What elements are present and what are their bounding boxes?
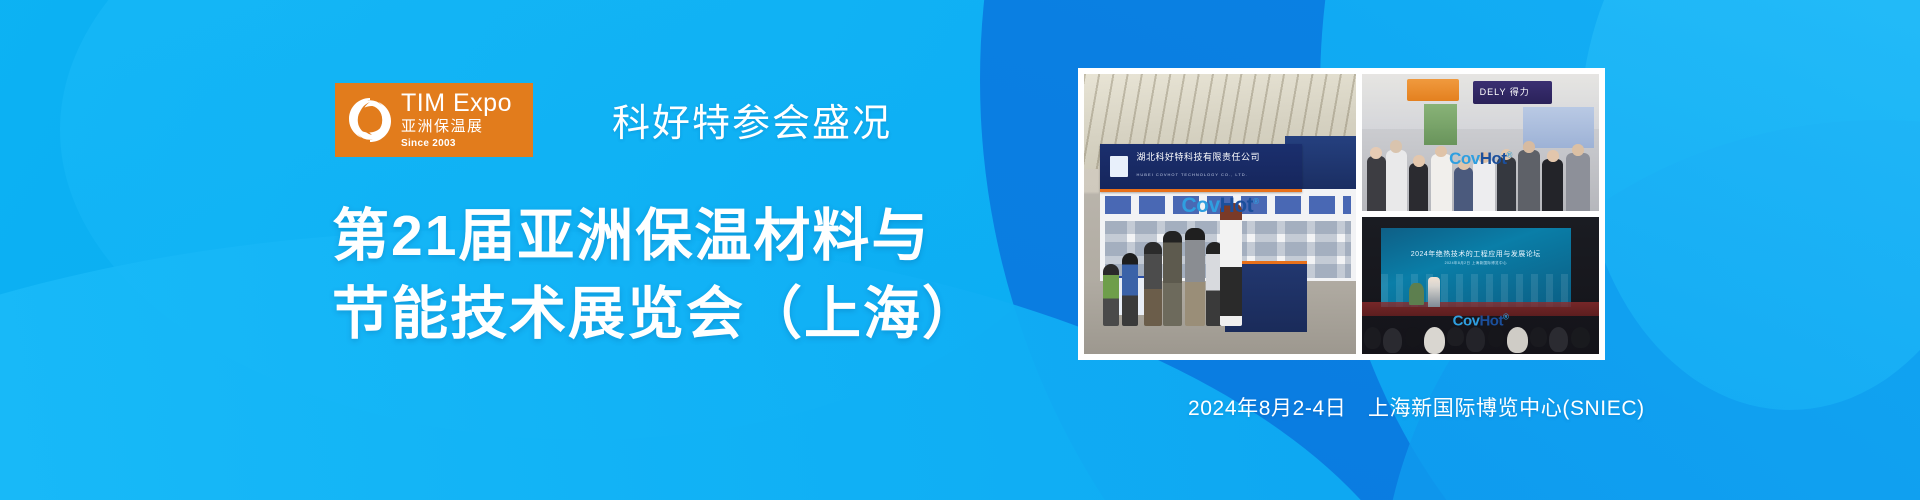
booth-header-banner: 湖北科好特科技有限责任公司 HUBEI COVHOT TECHNOLOGY CO…	[1100, 144, 1301, 192]
booth-banner-chinese: 湖北科好特科技有限责任公司	[1137, 150, 1261, 163]
audience-head	[1466, 327, 1485, 352]
aisle-orange-sign	[1407, 79, 1459, 101]
audience-head	[1530, 327, 1547, 347]
crowd-person-head	[1370, 147, 1382, 159]
booth-banner-english: HUBEI COVHOT TECHNOLOGY CO., LTD.	[1137, 172, 1248, 177]
watermark-registered-icon: ®	[1253, 197, 1258, 206]
crowd-person	[1409, 163, 1428, 211]
booth-banner-logo-icon	[1110, 156, 1128, 178]
tim-expo-swirl-icon	[345, 95, 395, 145]
audience-head	[1405, 327, 1422, 348]
banner-content: TIM Expo 亚洲保温展 Since 2003 科好特参会盛况 第21届亚洲…	[0, 0, 1920, 500]
watermark-cov-text: Cov	[1453, 313, 1480, 330]
aisle-crowd-scene: DELY 得力	[1362, 74, 1599, 211]
forum-photo: 2024年绝热技术的工程应用与发展论坛 2024年8月2日 上海新国际博览中心	[1362, 217, 1599, 354]
aisle-crowd-group	[1362, 134, 1599, 211]
watermark-registered-icon: ®	[1503, 313, 1508, 322]
crowd-person	[1566, 153, 1590, 211]
watermark-hot-text: Hot	[1220, 194, 1254, 217]
covhot-watermark: CovHot®	[1181, 194, 1258, 218]
booth-visitor	[1103, 264, 1119, 326]
booth-visitor	[1144, 242, 1162, 326]
crowd-person-head	[1413, 155, 1425, 167]
booth-visitor	[1185, 228, 1205, 326]
crowd-person	[1386, 150, 1407, 211]
tim-expo-logo[interactable]: TIM Expo 亚洲保温展 Since 2003	[335, 83, 533, 157]
expo-banner: TIM Expo 亚洲保温展 Since 2003 科好特参会盛况 第21届亚洲…	[0, 0, 1920, 500]
aisle-crowd-photo: DELY 得力	[1362, 74, 1599, 211]
crowd-person-head	[1547, 150, 1559, 162]
covhot-watermark: CovHot®	[1453, 313, 1509, 330]
headline-line-1: 第21届亚洲保温材料与	[332, 198, 981, 276]
logo-text-block: TIM Expo 亚洲保温展 Since 2003	[401, 91, 512, 149]
audience-head	[1424, 327, 1445, 354]
forum-scene: 2024年绝热技术的工程应用与发展论坛 2024年8月2日 上海新国际博览中心	[1362, 217, 1599, 354]
logo-chinese-name: 亚洲保温展	[401, 119, 512, 134]
booth-visitor	[1122, 253, 1138, 326]
audience-head	[1383, 328, 1402, 353]
dely-booth-sign: DELY 得力	[1473, 81, 1551, 104]
logo-since-label: Since 2003	[401, 139, 512, 149]
crowd-person	[1518, 150, 1539, 211]
eyebrow-title: 科好特参会盛况	[612, 92, 892, 147]
watermark-hot-text: Hot	[1479, 313, 1503, 330]
audience-head	[1507, 327, 1528, 353]
audience-head	[1364, 327, 1381, 349]
watermark-registered-icon: ®	[1507, 150, 1512, 159]
booth-photo-scene: 湖北科好特科技有限责任公司 HUBEI COVHOT TECHNOLOGY CO…	[1084, 74, 1356, 354]
booth-visitor	[1220, 203, 1242, 326]
watermark-cov-text: Cov	[1449, 149, 1480, 168]
crowd-person-head	[1390, 140, 1402, 152]
crowd-person	[1454, 167, 1473, 211]
crowd-person-head	[1572, 144, 1584, 156]
audience-head	[1488, 327, 1505, 348]
collage-right-column: DELY 得力	[1362, 74, 1599, 354]
headline-line-2: 节能技术展览会（上海）	[332, 276, 981, 354]
photo-collage: 湖北科好特科技有限责任公司 HUBEI COVHOT TECHNOLOGY CO…	[1078, 68, 1605, 360]
forum-screen-title: 2024年绝热技术的工程应用与发展论坛	[1411, 249, 1541, 259]
booth-photo: 湖北科好特科技有限责任公司 HUBEI COVHOT TECHNOLOGY CO…	[1084, 74, 1356, 354]
watermark-cov-text: Cov	[1181, 194, 1219, 217]
audience-head	[1549, 327, 1568, 352]
covhot-watermark: CovHot®	[1449, 149, 1512, 169]
dely-sign-text: DELY 得力	[1480, 85, 1530, 98]
date-venue-line: 2024年8月2-4日 上海新国际博览中心(SNIEC)	[1188, 392, 1645, 422]
crowd-person-head	[1523, 141, 1535, 153]
booth-visitor	[1163, 231, 1182, 326]
forum-screen-subtitle: 2024年8月2日 上海新国际博览中心	[1445, 261, 1507, 266]
page-title: 第21届亚洲保温材料与 节能技术展览会（上海）	[332, 198, 981, 353]
audience-head	[1571, 327, 1590, 348]
watermark-hot-text: Hot	[1480, 149, 1507, 168]
logo-english-name: TIM Expo	[401, 91, 512, 116]
crowd-person	[1542, 159, 1563, 211]
crowd-person	[1367, 156, 1386, 211]
